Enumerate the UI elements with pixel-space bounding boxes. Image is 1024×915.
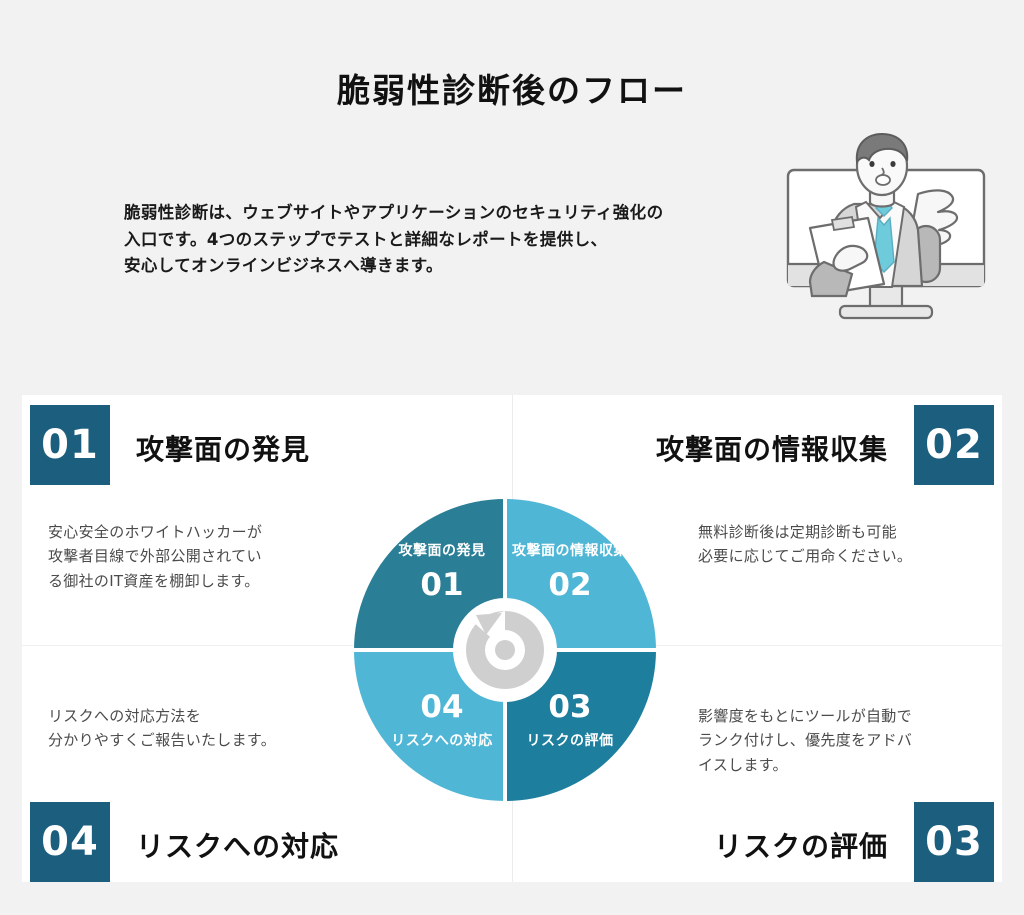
refresh-cycle-icon: [466, 611, 544, 689]
step-badge-02: 02: [914, 405, 994, 485]
center-cycle-wheel: 攻撃面の発見 01 攻撃面の情報収集 02 03 リスクの評価 04 リスクへの…: [352, 497, 658, 803]
step-body-02: 無料診断後は定期診断も可能 必要に応じてご用命ください。: [698, 520, 998, 569]
step-badge-04: 04: [30, 802, 110, 882]
wheel-number-01: 01: [420, 567, 463, 603]
step-heading-03: リスクの評価: [714, 825, 888, 865]
step-body-03: 影響度をもとにツールが自動で ランク付けし、優先度をアドバ イスします。: [698, 704, 998, 777]
step-heading-02: 攻撃面の情報収集: [656, 428, 888, 468]
page-title: 脆弱性診断後のフロー: [0, 64, 1024, 112]
wheel-number-02: 02: [548, 567, 591, 603]
wheel-number-03: 03: [548, 689, 591, 725]
step-heading-04: リスクへの対応: [136, 825, 339, 865]
businessman-on-monitor-illustration: [766, 132, 1006, 322]
wheel-label-02: 攻撃面の情報収集: [512, 542, 628, 559]
wheel-label-04: リスクへの対応: [391, 732, 493, 749]
step-body-01: 安心安全のホワイトハッカーが 攻撃者目線で外部公開されてい る御社のIT資産を棚…: [48, 520, 358, 593]
intro-paragraph: 脆弱性診断は、ウェブサイトやアプリケーションのセキュリティ強化の 入口です。4つ…: [124, 200, 764, 280]
step-body-04: リスクへの対応方法を 分かりやすくご報告いたします。: [48, 704, 358, 753]
step-badge-03: 03: [914, 802, 994, 882]
wheel-label-03: リスクの評価: [527, 732, 614, 749]
step-badge-01: 01: [30, 405, 110, 485]
wheel-number-04: 04: [420, 689, 463, 725]
step-heading-01: 攻撃面の発見: [136, 428, 310, 468]
wheel-label-01: 攻撃面の発見: [399, 542, 486, 559]
